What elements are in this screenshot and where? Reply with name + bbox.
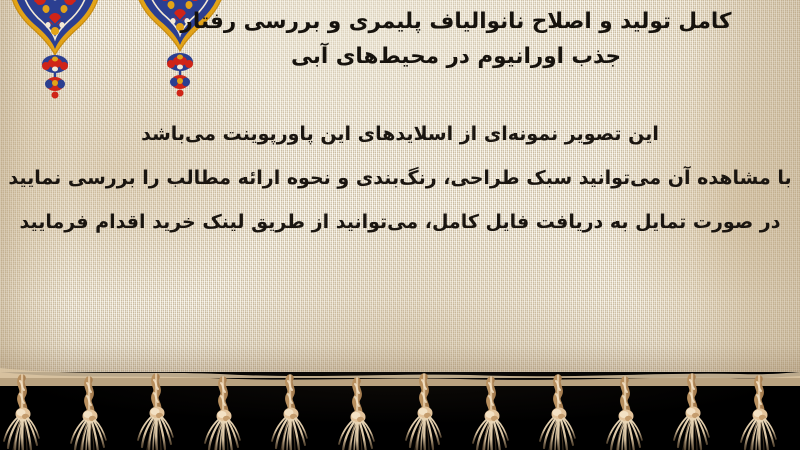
- slide-body: این تصویر نمونه‌ای از اسلایدهای این پاور…: [0, 112, 800, 244]
- slide-canvas: کامل تولید و اصلاح نانوالیاف پلیمری و بر…: [0, 0, 800, 450]
- body-line-3: در صورت تمایل به دریافت فایل کامل، می‌تو…: [0, 200, 800, 244]
- title-line-2: جذب اورانیوم در محیط‌های آبی: [136, 39, 776, 74]
- body-line-1: این تصویر نمونه‌ای از اسلایدهای این پاور…: [0, 112, 800, 156]
- title-line-1: کامل تولید و اصلاح نانوالیاف پلیمری و بر…: [136, 4, 776, 39]
- black-lower-band: [0, 372, 800, 450]
- body-line-2: با مشاهده آن می‌توانید سبک طراحی، رنگ‌بن…: [0, 156, 800, 200]
- slide-title: کامل تولید و اصلاح نانوالیاف پلیمری و بر…: [136, 4, 776, 74]
